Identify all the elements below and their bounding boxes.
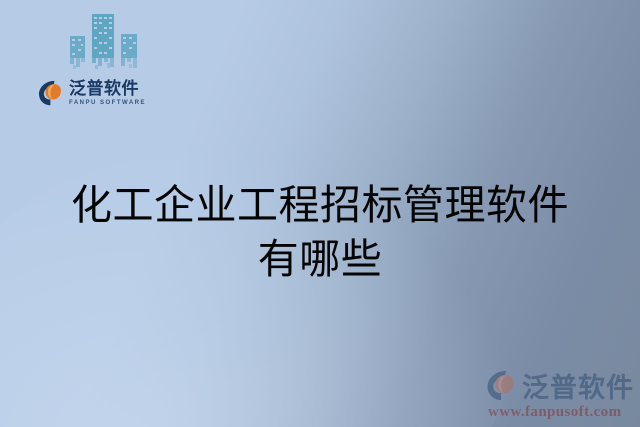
slide-canvas: 泛普软件 FANPU SOFTWARE 化工企业工程招标管理软件 有哪些 泛普软…: [0, 0, 640, 427]
brand-header: 泛普软件 FANPU SOFTWARE: [36, 12, 176, 106]
pixel-city-skyline-icon: [65, 12, 147, 74]
logo-name-cn: 泛普软件: [69, 81, 146, 98]
page-title: 化工企业工程招标管理软件 有哪些: [0, 178, 640, 286]
logo-wordmark: 泛普软件 FANPU SOFTWARE: [69, 81, 146, 106]
page-title-line-2: 有哪些: [0, 232, 640, 286]
fanpu-swoosh-logo-icon: [486, 370, 520, 401]
fanpu-logo: 泛普软件 FANPU SOFTWARE: [36, 80, 176, 106]
watermark-logo-row: 泛普软件: [486, 366, 634, 405]
fanpu-swoosh-logo-icon: [38, 80, 66, 106]
watermark-name-cn: 泛普软件: [522, 366, 634, 405]
watermark-url: www.fanpusoft.com: [488, 404, 634, 421]
logo-name-en: FANPU SOFTWARE: [69, 100, 146, 106]
page-title-line-1: 化工企业工程招标管理软件: [0, 178, 640, 232]
watermark: 泛普软件 www.fanpusoft.com: [486, 366, 634, 421]
